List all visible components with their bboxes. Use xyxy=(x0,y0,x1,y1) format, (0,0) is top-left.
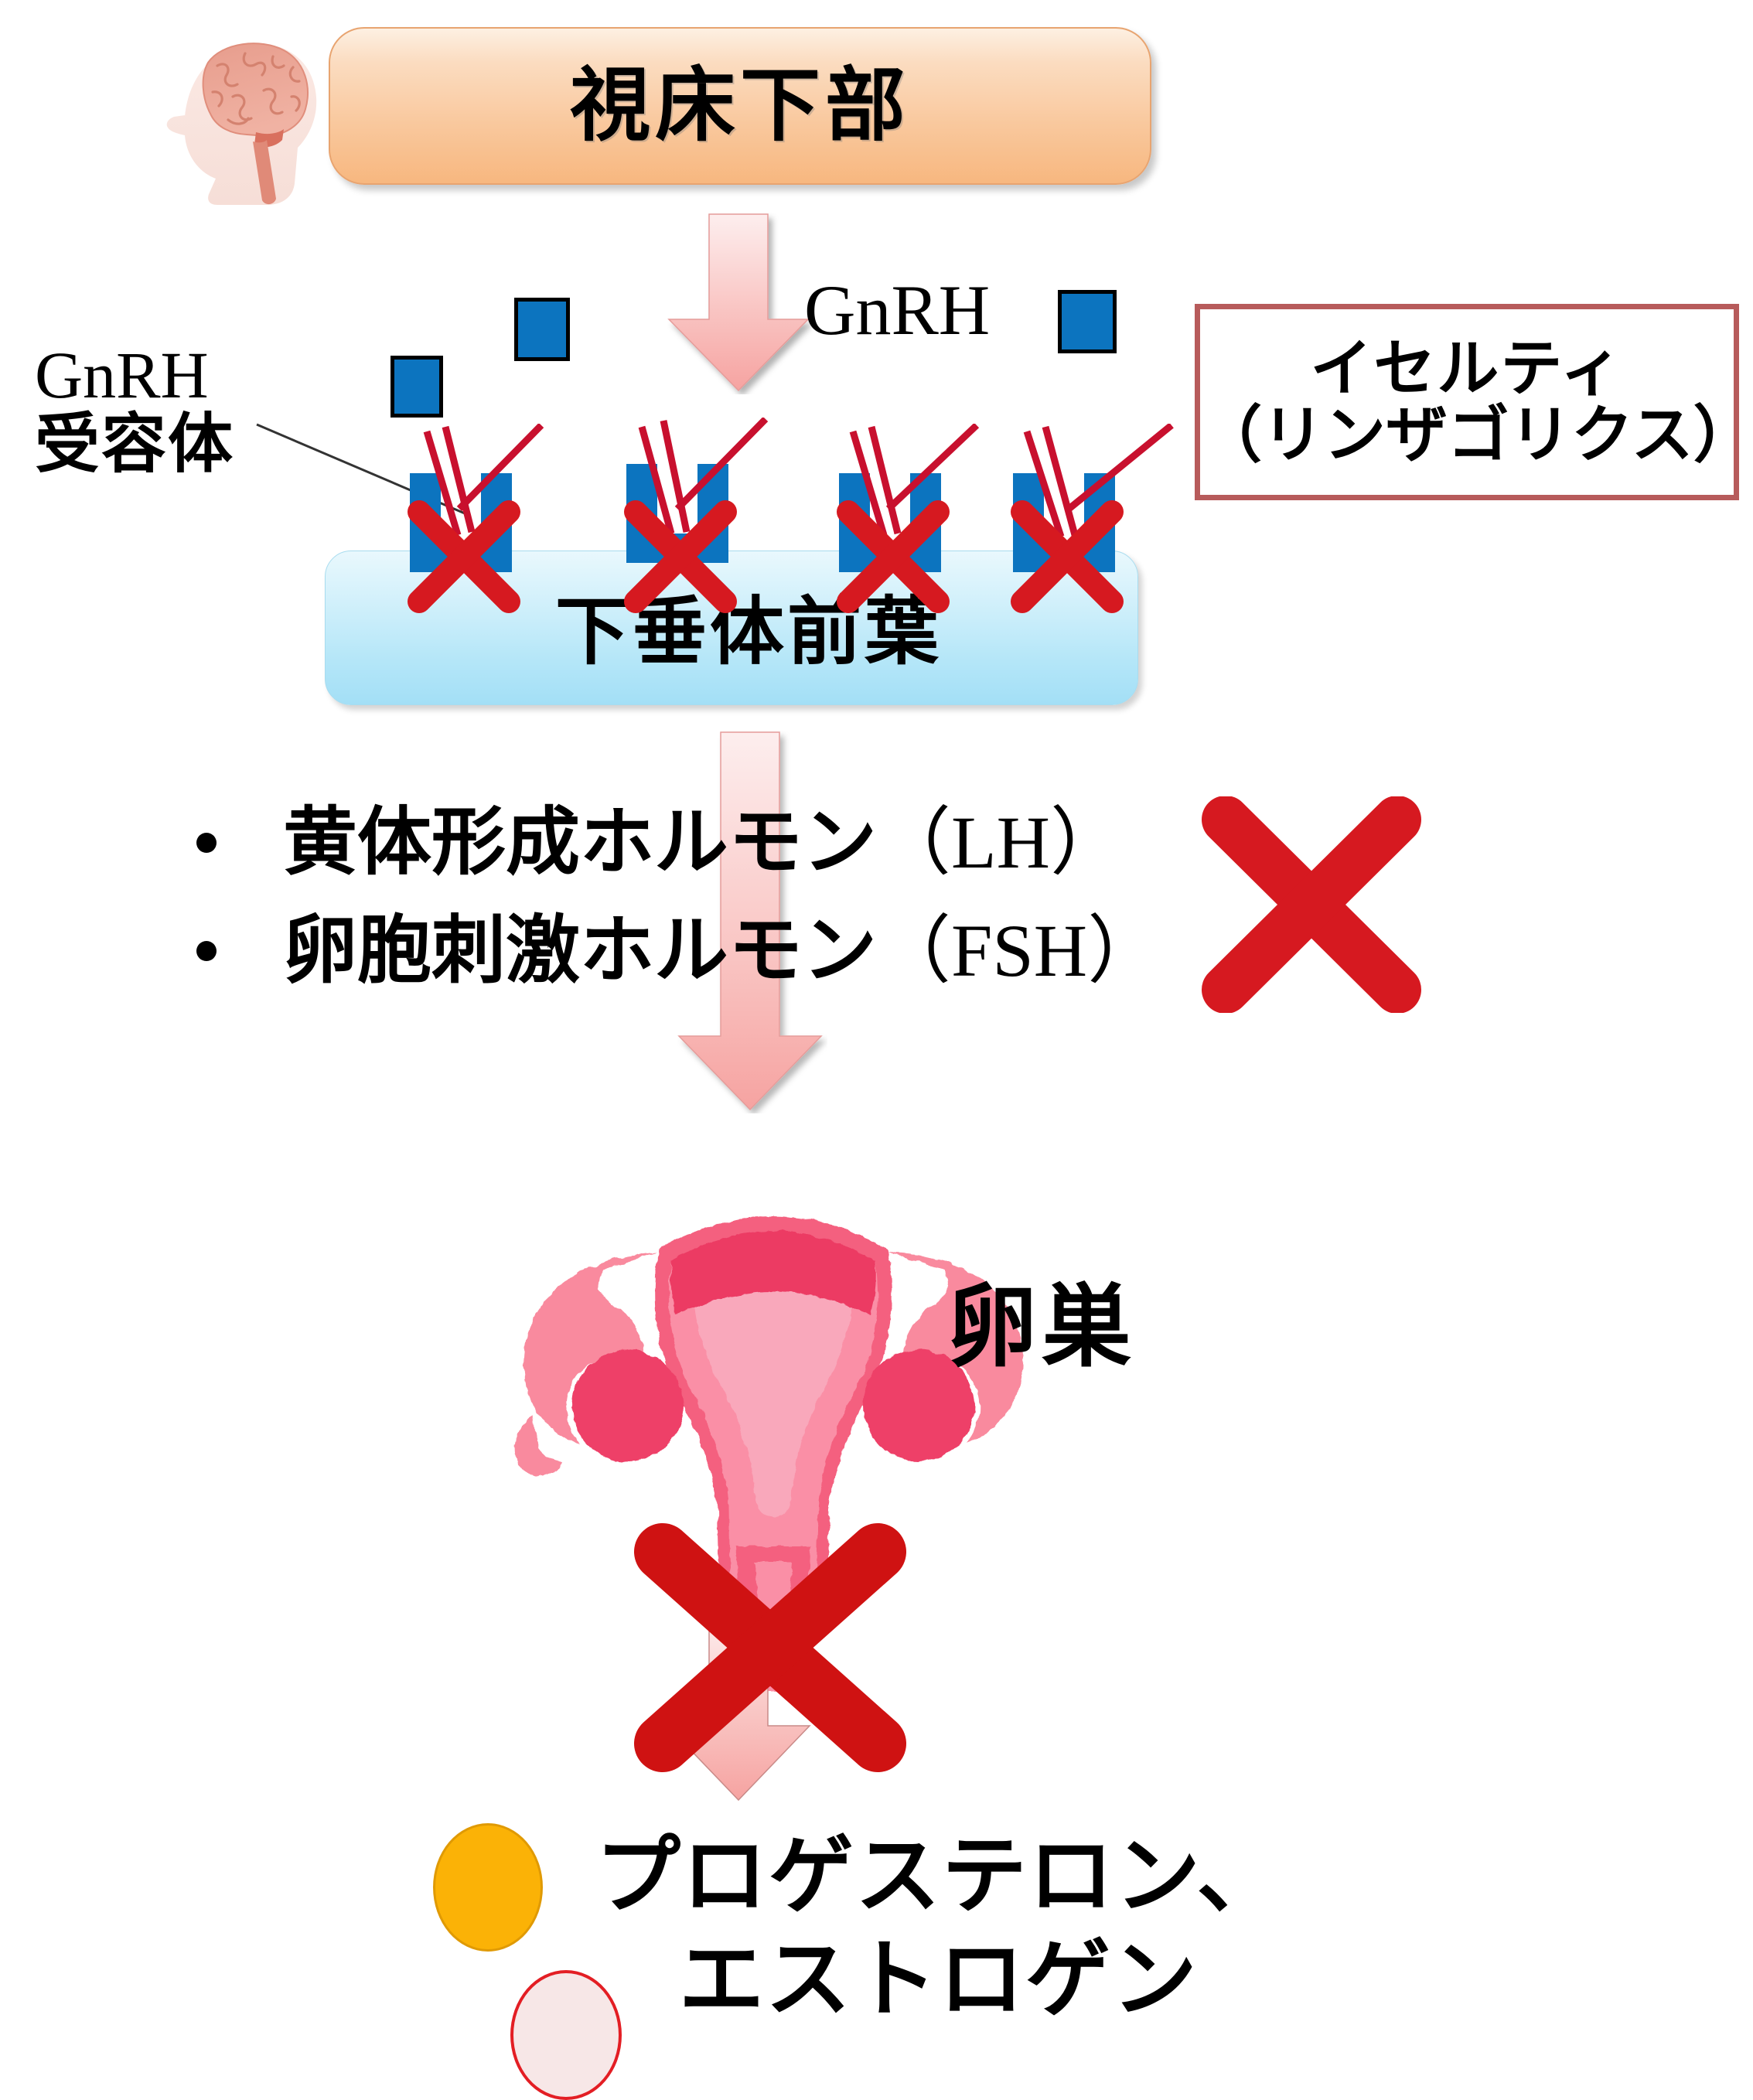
list-item: 黄体形成ホルモン（LH） xyxy=(186,789,1214,897)
red-x-icon xyxy=(402,495,526,619)
drug-callout-box: イセルティ （リンザゴリクス） xyxy=(1195,304,1739,500)
gnrh-ligand-square xyxy=(514,298,570,361)
gnrh-arrow-label: GnRH xyxy=(804,274,990,346)
hypothalamus-box: 視床下部 xyxy=(329,27,1151,185)
hormone-lh-label: 黄体形成ホルモン（LH） xyxy=(283,806,1124,880)
gnrh-ligand-square xyxy=(1058,290,1117,353)
gonadotropin-list: 黄体形成ホルモン（LH） 卵胞刺激ホルモン（FSH） xyxy=(186,789,1214,1005)
estrogen-label: エストロゲン xyxy=(679,1928,1523,2032)
list-bullet xyxy=(196,833,217,853)
progesterone-dot xyxy=(433,1823,543,1952)
list-item: 卵胞刺激ホルモン（FSH） xyxy=(186,897,1214,1005)
hypothalamus-label: 視床下部 xyxy=(570,66,910,146)
gnrh-receptor-label-line1: GnRH xyxy=(35,340,360,410)
gnrh-down-arrow xyxy=(661,213,816,394)
diagram-canvas: 視床下部 GnRH GnRH 受容体 下垂体前葉 xyxy=(0,0,1753,2100)
brain-side-profile-icon xyxy=(151,19,352,209)
ovary-label: 卵巣 xyxy=(947,1282,1136,1372)
hormone-fsh-label: 卵胞刺激ホルモン（FSH） xyxy=(283,914,1161,988)
drug-brand-name: イセルティ xyxy=(1310,336,1623,402)
red-x-icon xyxy=(1005,495,1129,619)
red-x-icon xyxy=(831,495,955,619)
red-x-icon xyxy=(619,495,742,619)
drug-generic-name: （リンザゴリクス） xyxy=(1200,402,1734,469)
red-x-icon xyxy=(1195,796,1427,1013)
gnrh-ligand-square xyxy=(391,356,443,418)
steroid-hormone-legend: プロゲステロン、 エストロゲン xyxy=(595,1825,1523,2032)
list-bullet xyxy=(196,941,217,961)
progesterone-label: プロゲステロン、 xyxy=(595,1825,1523,1928)
red-x-icon xyxy=(622,1519,916,1782)
